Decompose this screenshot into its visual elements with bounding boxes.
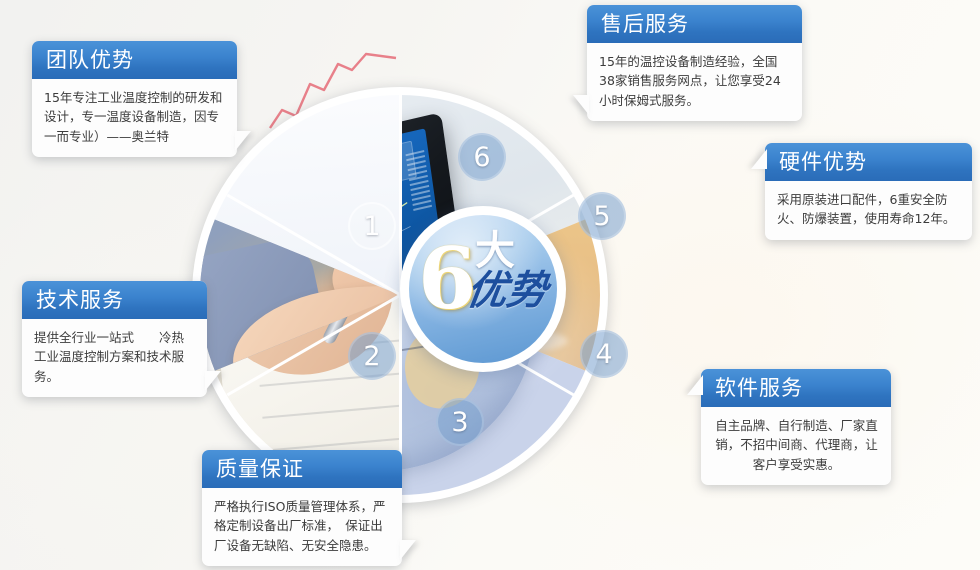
callout-after-sales-tail <box>573 95 589 115</box>
callout-technical-tail <box>205 371 221 391</box>
callout-after-sales[interactable]: 售后服务 15年的温控设备制造经验，全国38家销售服务网点，让您享受24小时保姆… <box>587 5 802 121</box>
marker-2[interactable]: 2 <box>348 332 396 380</box>
callout-technical[interactable]: 技术服务 提供全行业一站式 冷热工业温度控制方案和技术服务。 <box>22 281 207 397</box>
marker-6[interactable]: 6 <box>458 133 506 181</box>
callout-software[interactable]: 软件服务 自主品牌、自行制造、厂家直销，不招中间商、代理商，让客户享受实惠。 <box>701 369 891 485</box>
callout-team[interactable]: 团队优势 15年专注工业温度控制的研发和设计，专一温度设备制造，因专一而专业）—… <box>32 41 237 157</box>
callout-hardware-body: 采用原装进口配件，6重安全防火、防爆装置，使用寿命12年。 <box>765 181 972 240</box>
callout-technical-title: 技术服务 <box>22 281 207 319</box>
callout-team-tail <box>235 131 251 151</box>
callout-hardware-title: 硬件优势 <box>765 143 972 181</box>
callout-after-sales-body: 15年的温控设备制造经验，全国38家销售服务网点，让您享受24小时保姆式服务。 <box>587 43 802 121</box>
callout-quality-body: 严格执行ISO质量管理体系，严格定制设备出厂标准， 保证出厂设备无缺陷、无安全隐… <box>202 488 402 566</box>
marker-1[interactable]: 1 <box>348 202 396 250</box>
callout-software-body: 自主品牌、自行制造、厂家直销，不招中间商、代理商，让客户享受实惠。 <box>701 407 891 485</box>
callout-technical-body: 提供全行业一站式 冷热工业温度控制方案和技术服务。 <box>22 319 207 397</box>
center-unit: 大 <box>475 231 515 271</box>
callout-quality-tail <box>400 540 416 560</box>
marker-5-label: 5 <box>593 203 610 230</box>
callout-software-title: 软件服务 <box>701 369 891 407</box>
marker-3[interactable]: 3 <box>436 398 484 446</box>
callout-quality[interactable]: 质量保证 严格执行ISO质量管理体系，严格定制设备出厂标准， 保证出厂设备无缺陷… <box>202 450 402 566</box>
callout-hardware[interactable]: 硬件优势 采用原装进口配件，6重安全防火、防爆装置，使用寿命12年。 <box>765 143 972 240</box>
marker-4-label: 4 <box>595 341 612 368</box>
center-badge-inner: 6 大 优势 <box>409 215 557 363</box>
marker-6-label: 6 <box>473 144 490 171</box>
callout-after-sales-title: 售后服务 <box>587 5 802 43</box>
callout-hardware-tail <box>751 149 767 169</box>
callout-team-body: 15年专注工业温度控制的研发和设计，专一温度设备制造，因专一而专业）——奥兰特 <box>32 79 237 157</box>
marker-5[interactable]: 5 <box>578 192 626 240</box>
marker-4[interactable]: 4 <box>580 330 628 378</box>
center-word: 优势 <box>464 271 550 311</box>
marker-3-label: 3 <box>451 409 468 436</box>
center-badge: 6 大 优势 <box>400 206 566 372</box>
callout-software-tail <box>687 375 703 395</box>
callout-team-title: 团队优势 <box>32 41 237 79</box>
callout-quality-title: 质量保证 <box>202 450 402 488</box>
marker-2-label: 2 <box>363 343 380 370</box>
marker-1-label: 1 <box>363 213 380 240</box>
infographic-stage: INTC 440.86 <box>0 0 980 570</box>
